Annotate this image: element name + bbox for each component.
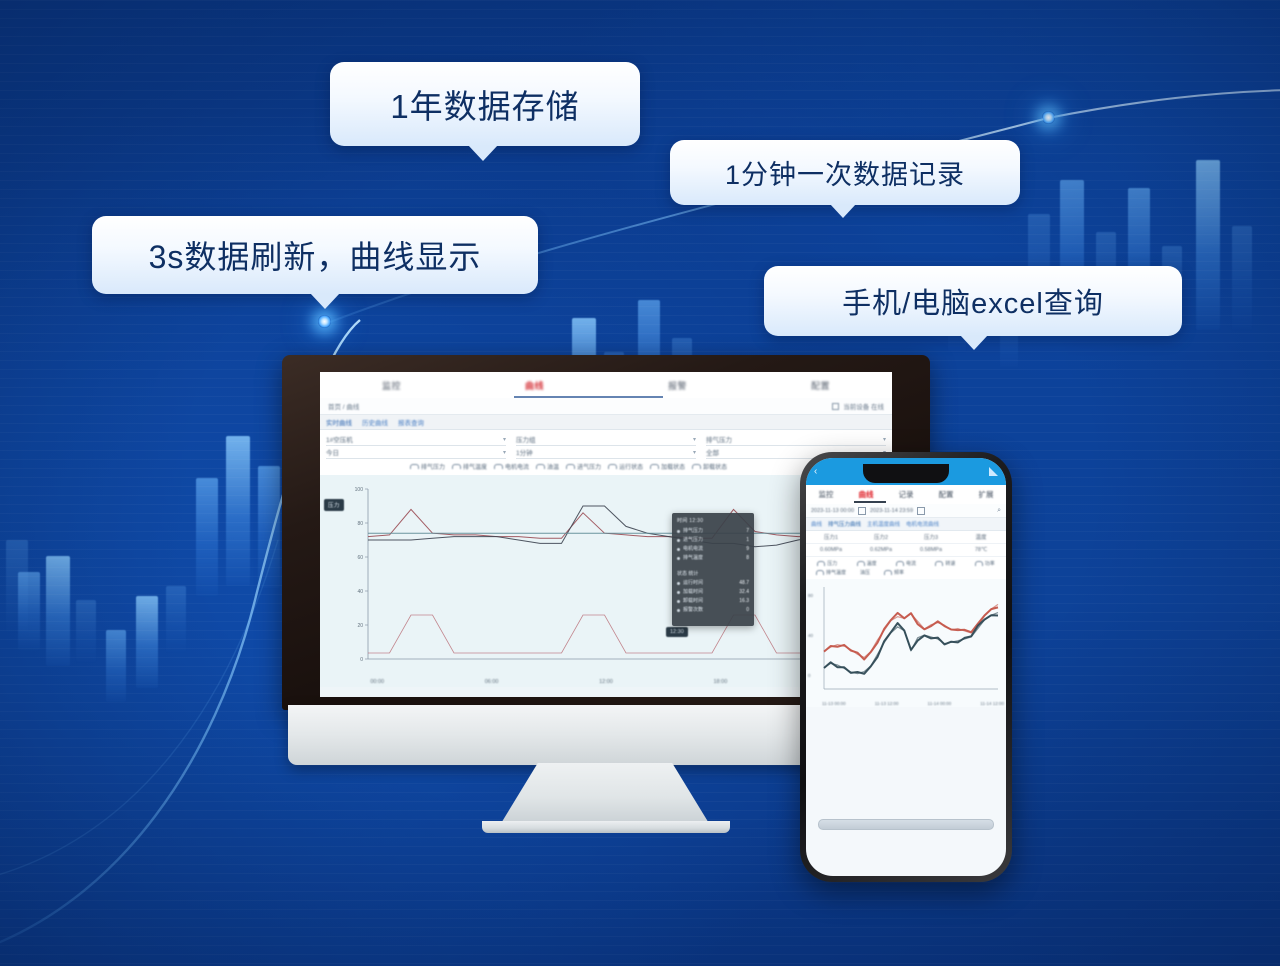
filter-select-2[interactable]: 排气压力 ▾ bbox=[706, 434, 886, 446]
tooltip-dot-icon bbox=[677, 548, 680, 551]
tooltip-row: 电机电流9 bbox=[677, 545, 749, 554]
legend-label: 油温 bbox=[547, 462, 559, 471]
x-tick-0: 11-13 00:00 bbox=[822, 701, 846, 707]
filter-row: 1#空压机 ▾ 压力组 ▾ 排气压力 ▾ bbox=[326, 433, 886, 446]
legend-marker-icon bbox=[452, 464, 461, 469]
phone-tab-1[interactable]: 曲线 bbox=[846, 489, 886, 500]
cell: 0.58MPa bbox=[906, 547, 956, 553]
phone-tab-4[interactable]: 扩展 bbox=[966, 489, 1006, 500]
monitor-breadcrumb-bar: 首页 / 曲线 当前设备 在线 bbox=[320, 398, 892, 415]
legend-item[interactable]: 功率 bbox=[975, 560, 995, 567]
calendar-icon[interactable] bbox=[858, 507, 866, 515]
tooltip-label: 卸载时间 bbox=[683, 597, 703, 606]
bubble-data-storage-label: 1年数据存储 bbox=[390, 80, 579, 128]
legend-item[interactable]: 电流 bbox=[896, 560, 916, 567]
filter-value-1: 压力组 bbox=[516, 434, 536, 444]
legend-label: 油压 bbox=[860, 569, 870, 576]
filter-value-0: 1#空压机 bbox=[326, 434, 353, 444]
legend-item[interactable]: 排气温度 bbox=[452, 462, 487, 471]
tooltip-dot-icon bbox=[677, 591, 680, 594]
legend-item[interactable]: 加载状态 bbox=[650, 462, 685, 471]
bubble-data-record-label: 1分钟一次数据记录 bbox=[725, 153, 965, 192]
tooltip-row: 排气温度8 bbox=[677, 554, 749, 563]
tooltip-row: 运行时间48.7 bbox=[677, 579, 749, 588]
filter-select-1[interactable]: 压力组 ▾ bbox=[516, 434, 696, 446]
tooltip-value: 1 bbox=[746, 536, 749, 545]
cell: 0.60MPa bbox=[806, 547, 856, 553]
x-tick-2: 12:00 bbox=[599, 679, 613, 685]
tooltip-dot-icon bbox=[677, 600, 680, 603]
legend-item[interactable]: 油温 bbox=[536, 462, 559, 471]
tooltip-dot-icon bbox=[677, 582, 680, 585]
bubble-tail-icon bbox=[310, 293, 340, 309]
legend-item[interactable]: 卸载状态 bbox=[692, 462, 727, 471]
monitor-status-label: 当前设备 在线 bbox=[843, 401, 884, 411]
tooltip-label: 排气压力 bbox=[683, 527, 703, 536]
y-tick-0: 80 bbox=[808, 593, 813, 598]
filter-select-0[interactable]: 1#空压机 ▾ bbox=[326, 434, 506, 446]
tooltip-title: 时间 12:30 bbox=[677, 517, 749, 524]
monitor-active-tab-underline bbox=[514, 396, 663, 398]
x-tick-3: 18:00 bbox=[713, 679, 727, 685]
phone-chart-x-axis-labels: 11-13 00:00 11-13 12:00 11-14 00:00 11-1… bbox=[822, 701, 1004, 707]
legend-marker-icon bbox=[857, 561, 865, 566]
tooltip-value: 8 bbox=[746, 554, 749, 563]
legend-item[interactable]: 运行状态 bbox=[608, 462, 643, 471]
phone-subtab-1[interactable]: 排气压力曲线 bbox=[828, 520, 861, 528]
chevron-down-icon: ▾ bbox=[693, 436, 696, 443]
phone-tab-3[interactable]: 配置 bbox=[926, 489, 966, 500]
tooltip-label: 状态 统计 bbox=[677, 570, 698, 579]
bubble-data-storage: 1年数据存储 bbox=[330, 62, 640, 146]
tooltip-label: 进气压力 bbox=[683, 536, 703, 545]
tooltip-value: 16.3 bbox=[739, 597, 749, 606]
date-start-value[interactable]: 2023-11-13 00:00 bbox=[811, 508, 854, 514]
filter-value-3: 今日 bbox=[326, 447, 339, 457]
legend-label: 排气压力 bbox=[421, 462, 445, 471]
svg-text:60: 60 bbox=[357, 555, 363, 561]
calendar-icon[interactable] bbox=[917, 507, 925, 515]
legend-row: 压力 温度 电流 转速 功率 bbox=[810, 560, 1002, 567]
chevron-down-icon: ▾ bbox=[693, 449, 696, 456]
tooltip-label: 排气温度 bbox=[683, 554, 703, 563]
x-tick-2: 11-14 00:00 bbox=[928, 701, 952, 707]
svg-text:100: 100 bbox=[355, 487, 364, 493]
monitor-tab-3[interactable]: 配置 bbox=[749, 379, 892, 392]
filter-value-2: 排气压力 bbox=[706, 434, 732, 444]
svg-text:20: 20 bbox=[357, 623, 363, 629]
legend-item[interactable]: 温度 bbox=[857, 560, 877, 567]
bubble-tail-icon bbox=[468, 145, 498, 161]
y-tick-1: 40 bbox=[808, 633, 813, 638]
tooltip-value: 0 bbox=[746, 606, 749, 615]
phone-chart-svg bbox=[806, 579, 1004, 707]
status-square-icon bbox=[832, 403, 839, 410]
x-tick-1: 11-13 12:00 bbox=[875, 701, 899, 707]
tooltip-value: 48.7 bbox=[739, 579, 749, 588]
table-row: 压力1 压力2 压力3 温度 bbox=[806, 531, 1006, 544]
monitor-subtab-0[interactable]: 实时曲线 bbox=[326, 417, 352, 427]
legend-marker-icon bbox=[494, 464, 503, 469]
table-row: 0.60MPa 0.62MPa 0.58MPa 78℃ bbox=[806, 544, 1006, 557]
legend-marker-icon bbox=[692, 464, 701, 469]
chart-y-axis-badge: 压力 bbox=[324, 499, 344, 511]
legend-marker-icon bbox=[816, 570, 824, 575]
legend-marker-icon bbox=[935, 561, 943, 566]
phone-active-tab-underline bbox=[854, 501, 886, 503]
tooltip-row: 卸载时间16.3 bbox=[677, 597, 749, 606]
phone-notch bbox=[863, 464, 949, 483]
legend-label: 压力 bbox=[827, 560, 837, 567]
horizontal-scrollbar[interactable] bbox=[818, 819, 994, 830]
date-end-value[interactable]: 2023-11-14 23:59 bbox=[870, 508, 913, 514]
x-tick-0: 00:00 bbox=[370, 679, 384, 685]
phone-tab-0[interactable]: 监控 bbox=[806, 489, 846, 500]
svg-text:40: 40 bbox=[357, 589, 363, 595]
legend-label: 频率 bbox=[894, 569, 904, 576]
legend-label: 进气压力 bbox=[577, 462, 601, 471]
chart-tooltip: 时间 12:30 排气压力7 进气压力1 电机电流9 排气温度8 状态 统计 运… bbox=[672, 513, 754, 626]
phone-tab-2[interactable]: 记录 bbox=[886, 489, 926, 500]
tooltip-row: 状态 统计 bbox=[677, 570, 749, 579]
legend-marker-icon bbox=[410, 464, 419, 469]
monitor-tab-2[interactable]: 报警 bbox=[606, 379, 749, 392]
tooltip-divider bbox=[677, 563, 749, 570]
tooltip-value: 9 bbox=[746, 545, 749, 554]
tooltip-value: 7 bbox=[746, 527, 749, 536]
tooltip-label: 电机电流 bbox=[683, 545, 703, 554]
phone-date-range-row: 2023-11-13 00:00 2023-11-14 23:59 ⌕ bbox=[806, 504, 1006, 518]
monitor-tab-0[interactable]: 监控 bbox=[320, 379, 463, 392]
legend-label: 温度 bbox=[867, 560, 877, 567]
bubble-excel-query: 手机/电脑excel查询 bbox=[764, 266, 1182, 336]
tooltip-label: 加载时间 bbox=[683, 588, 703, 597]
legend-item[interactable]: 电机电流 bbox=[494, 462, 529, 471]
legend-label: 加载状态 bbox=[661, 462, 685, 471]
filter-select-3[interactable]: 今日 ▾ bbox=[326, 447, 506, 459]
y-tick-2: 0 bbox=[808, 673, 811, 678]
filter-value-4: 1分钟 bbox=[516, 447, 533, 457]
tooltip-dot-icon bbox=[677, 539, 680, 542]
tooltip-value: 32.4 bbox=[739, 588, 749, 597]
filter-select-4[interactable]: 1分钟 ▾ bbox=[516, 447, 696, 459]
monitor-tab-bar: 监控 曲线 报警 配置 bbox=[320, 372, 892, 398]
search-icon[interactable]: ⌕ bbox=[997, 507, 1001, 515]
phone-subtab-bar: 曲线 排气压力曲线 主机温度曲线 电机电流曲线 bbox=[806, 518, 1006, 531]
tooltip-label: 运行时间 bbox=[683, 579, 703, 588]
svg-text:0: 0 bbox=[360, 657, 363, 663]
legend-marker-icon bbox=[975, 561, 983, 566]
monitor-subtab-1[interactable]: 历史曲线 bbox=[362, 417, 388, 427]
cell: 温度 bbox=[956, 533, 1006, 541]
chevron-down-icon: ▾ bbox=[883, 436, 886, 443]
tooltip-dot-icon bbox=[677, 557, 680, 560]
legend-label: 运行状态 bbox=[619, 462, 643, 471]
phone-screen: ‹ VENTCO 监控 曲线 记录 配置 扩展 2023-11-13 00:00… bbox=[806, 458, 1006, 876]
cell: 压力2 bbox=[856, 533, 906, 541]
monitor-stand-neck bbox=[500, 763, 710, 825]
phone-chart[interactable]: 80 40 0 11-13 00:00 11-13 12:00 11-14 00… bbox=[806, 579, 1006, 707]
legend-row: 排气温度 油压 频率 bbox=[810, 569, 1002, 576]
legend-label: 排气温度 bbox=[463, 462, 487, 471]
legend-item[interactable]: 转速 bbox=[935, 560, 955, 567]
x-tick-3: 11-14 12:00 bbox=[980, 701, 1004, 707]
legend-item[interactable]: 排气温度 bbox=[816, 569, 846, 576]
legend-marker-icon bbox=[608, 464, 617, 469]
legend-label: 功率 bbox=[985, 560, 995, 567]
legend-item[interactable]: 进气压力 bbox=[566, 462, 601, 471]
chevron-down-icon: ▾ bbox=[503, 449, 506, 456]
monitor-subtab-2[interactable]: 报表查询 bbox=[398, 417, 424, 427]
legend-label: 电机电流 bbox=[505, 462, 529, 471]
phone-tab-bar: 监控 曲线 记录 配置 扩展 bbox=[806, 485, 1006, 504]
legend-item[interactable]: 油压 bbox=[860, 569, 870, 576]
cell: 0.62MPa bbox=[856, 547, 906, 553]
bubble-data-record: 1分钟一次数据记录 bbox=[670, 140, 1020, 205]
phone-data-grid: 压力1 压力2 压力3 温度 0.60MPa 0.62MPa 0.58MPa 7… bbox=[806, 531, 1006, 557]
smartphone: ‹ VENTCO 监控 曲线 记录 配置 扩展 2023-11-13 00:00… bbox=[800, 452, 1012, 882]
legend-marker-icon bbox=[884, 570, 892, 575]
tooltip-label: 报警次数 bbox=[683, 606, 703, 615]
legend-label: 卸载状态 bbox=[703, 462, 727, 471]
tooltip-row: 加载时间32.4 bbox=[677, 588, 749, 597]
legend-label: 排气温度 bbox=[826, 569, 846, 576]
legend-item[interactable]: 排气压力 bbox=[410, 462, 445, 471]
monitor-status: 当前设备 在线 bbox=[832, 401, 884, 411]
bubble-tail-icon bbox=[960, 335, 988, 350]
x-tick-1: 06:00 bbox=[485, 679, 499, 685]
phone-subtab-2[interactable]: 主机温度曲线 bbox=[867, 520, 900, 528]
bubble-data-refresh-label: 3s数据刷新，曲线显示 bbox=[149, 232, 482, 278]
legend-item[interactable]: 频率 bbox=[884, 569, 904, 576]
tooltip-row: 排气压力7 bbox=[677, 527, 749, 536]
phone-chart-y-axis: 80 40 0 bbox=[808, 581, 822, 691]
tooltip-row: 进气压力1 bbox=[677, 536, 749, 545]
phone-chart-legend: 压力 温度 电流 转速 功率 排气温度 油压 频率 bbox=[806, 557, 1006, 579]
bubble-excel-query-label: 手机/电脑excel查询 bbox=[842, 280, 1104, 322]
tooltip-dot-icon bbox=[677, 530, 680, 533]
legend-marker-icon bbox=[566, 464, 575, 469]
wifi-icon bbox=[989, 467, 998, 476]
legend-marker-icon bbox=[650, 464, 659, 469]
phone-subtab-0[interactable]: 曲线 bbox=[811, 520, 822, 528]
legend-marker-icon bbox=[536, 464, 545, 469]
chart-x-marker-badge: 12:30 bbox=[666, 627, 688, 637]
filter-value-5: 全部 bbox=[706, 447, 719, 457]
bubble-tail-icon bbox=[830, 204, 856, 218]
tooltip-row: 报警次数0 bbox=[677, 606, 749, 615]
phone-subtab-3[interactable]: 电机电流曲线 bbox=[906, 520, 939, 528]
chevron-down-icon: ▾ bbox=[503, 436, 506, 443]
legend-item[interactable]: 压力 bbox=[817, 560, 837, 567]
monitor-stand-base bbox=[482, 821, 730, 833]
monitor-subtab-bar: 实时曲线 历史曲线 报表查询 bbox=[320, 415, 892, 430]
cell: 压力3 bbox=[906, 533, 956, 541]
legend-label: 转速 bbox=[945, 560, 955, 567]
cell: 78℃ bbox=[956, 547, 1006, 553]
monitor-tab-1[interactable]: 曲线 bbox=[463, 379, 606, 392]
tooltip-dot-icon bbox=[677, 609, 680, 612]
legend-label: 电流 bbox=[906, 560, 916, 567]
legend-marker-icon bbox=[896, 561, 904, 566]
svg-text:80: 80 bbox=[357, 521, 363, 527]
bubble-data-refresh: 3s数据刷新，曲线显示 bbox=[92, 216, 538, 294]
cell: 压力1 bbox=[806, 533, 856, 541]
legend-marker-icon bbox=[817, 561, 825, 566]
breadcrumb: 首页 / 曲线 bbox=[328, 401, 359, 411]
